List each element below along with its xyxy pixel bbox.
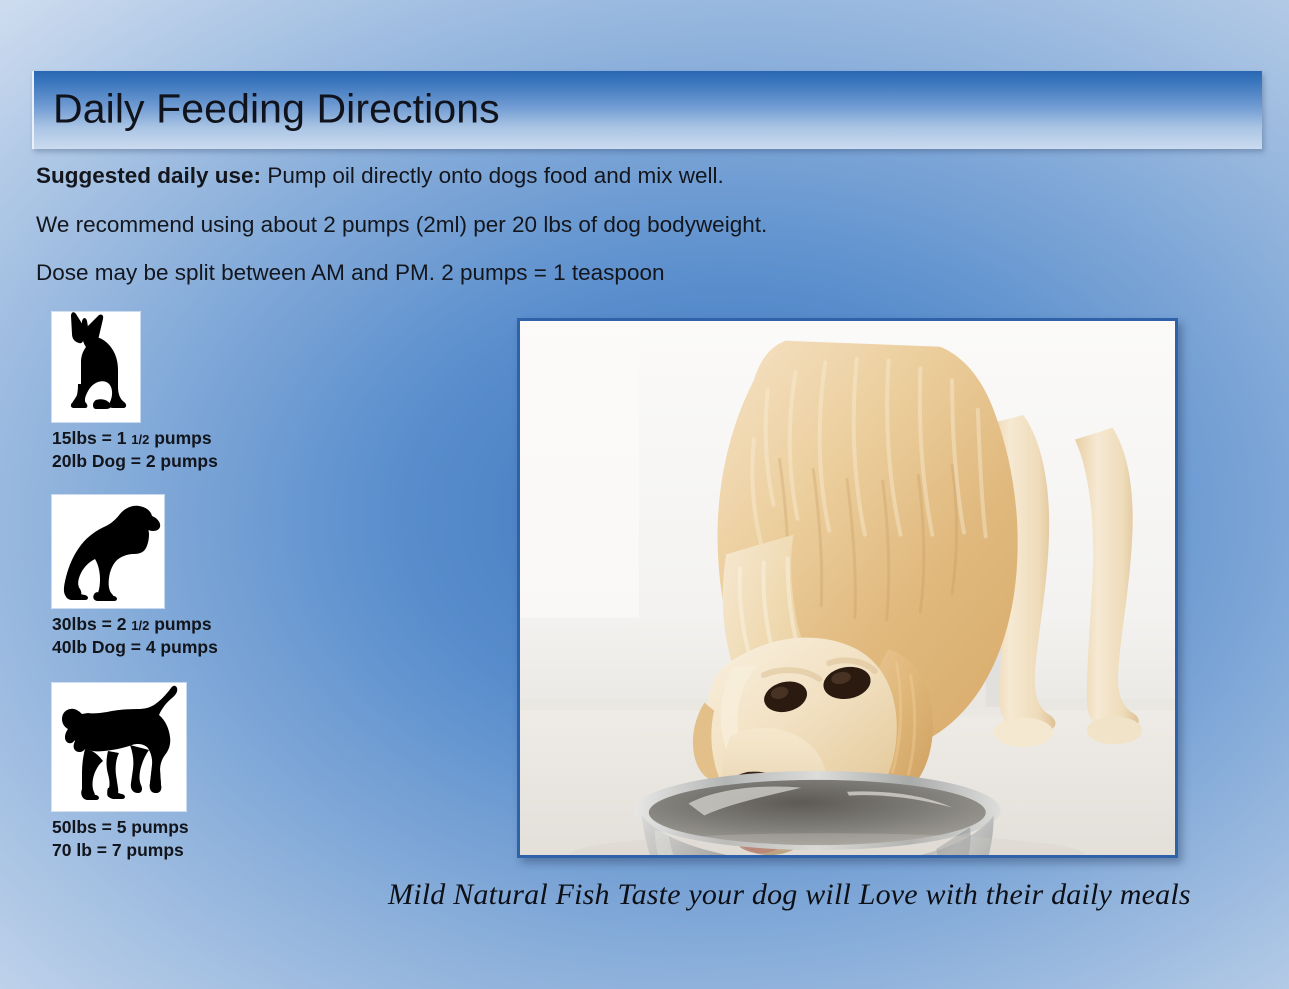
instruction-line-2: We recommend using about 2 pumps (2ml) p… [36,212,1036,239]
dosing-item-medium: 30lbs = 2 1/2 pumps 40lb Dog = 4 pumps [52,495,312,659]
dosing-line-large-1: 50lbs = 5 pumps [52,816,312,839]
title-banner: Daily Feeding Directions [32,71,1262,149]
dosing-labels-small: 15lbs = 1 1/2 pumps 20lb Dog = 2 pumps [52,427,312,473]
dosing-item-small: 15lbs = 1 1/2 pumps 20lb Dog = 2 pumps [52,312,312,473]
tagline-caption: Mild Natural Fish Taste your dog will Lo… [388,878,1188,912]
instructions-block: Suggested daily use: Pump oil directly o… [36,163,1036,309]
dose-text: 50lbs = 5 pumps [52,817,189,837]
instruction-line-3: Dose may be split between AM and PM. 2 p… [36,260,1036,287]
dosing-line-medium-1: 30lbs = 2 1/2 pumps [52,613,312,636]
page-title: Daily Feeding Directions [53,86,500,133]
dosing-line-small-2: 20lb Dog = 2 pumps [52,450,312,473]
golden-retriever-eating-from-bowl-photo [517,318,1178,858]
large-dog-silhouette-icon [52,683,186,811]
instruction-text: Pump oil directly onto dogs food and mix… [261,163,724,188]
dosing-line-medium-2: 40lb Dog = 4 pumps [52,636,312,659]
dosing-item-large: 50lbs = 5 pumps 70 lb = 7 pumps [52,683,312,862]
dose-fraction: 1/2 [131,432,149,447]
instruction-lead: Suggested daily use: [36,163,261,188]
dosing-line-large-2: 70 lb = 7 pumps [52,839,312,862]
slide-canvas: Daily Feeding Directions Suggested daily… [0,0,1289,989]
dosing-labels-large: 50lbs = 5 pumps 70 lb = 7 pumps [52,816,312,862]
dose-unit: pumps [149,614,211,634]
dose-text: 15lbs = 1 [52,428,131,448]
dosing-chart: 15lbs = 1 1/2 pumps 20lb Dog = 2 pumps [52,312,312,877]
dose-text: 30lbs = 2 [52,614,131,634]
dosing-labels-medium: 30lbs = 2 1/2 pumps 40lb Dog = 4 pumps [52,613,312,659]
dosing-line-small-1: 15lbs = 1 1/2 pumps [52,427,312,450]
dose-fraction: 1/2 [131,618,149,633]
small-dog-silhouette-icon [52,312,140,422]
instruction-line-1: Suggested daily use: Pump oil directly o… [36,163,1036,190]
medium-dog-silhouette-icon [52,495,164,608]
dose-unit: pumps [149,428,211,448]
